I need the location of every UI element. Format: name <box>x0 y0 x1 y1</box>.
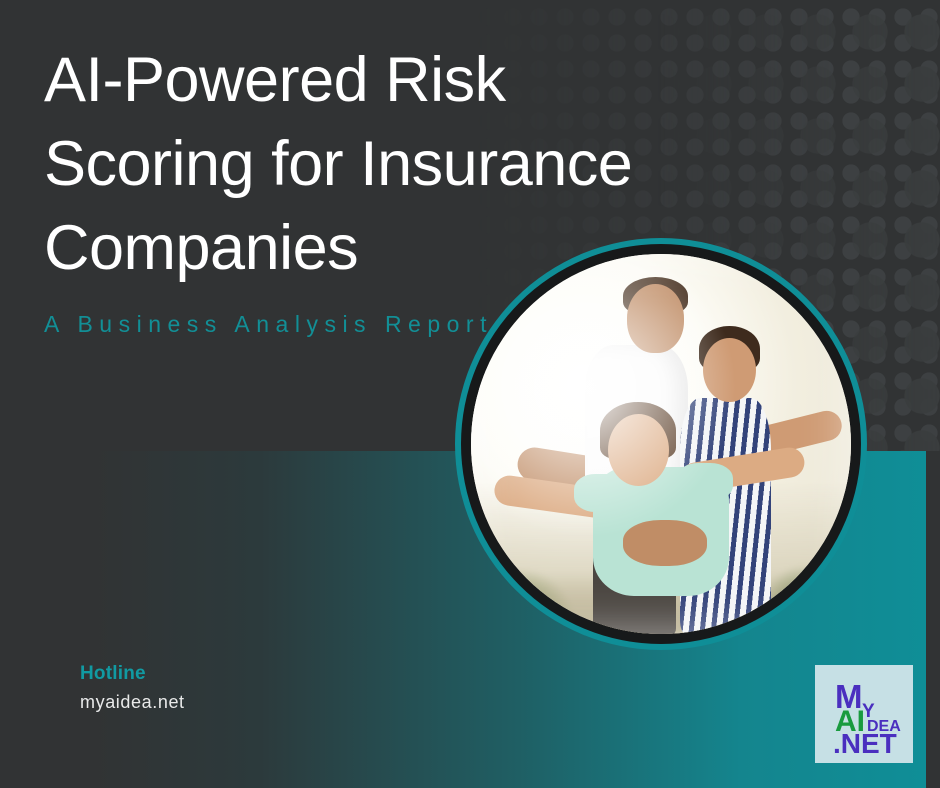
poster-canvas: AI-Powered Risk Scoring for Insurance Co… <box>0 0 940 788</box>
circular-photo-inner-ring <box>461 244 861 644</box>
hotline-value[interactable]: myaidea.net <box>80 692 185 713</box>
hotline-label: Hotline <box>80 663 185 685</box>
brand-logo[interactable]: M Y AI DEA .NET <box>815 665 913 763</box>
svg-text:.NET: .NET <box>833 728 897 759</box>
right-edge-strip <box>926 451 940 788</box>
brand-logo-icon: M Y AI DEA .NET <box>815 665 913 763</box>
circular-photo-frame <box>455 238 867 650</box>
hotline-block: Hotline myaidea.net <box>80 663 185 713</box>
photo-soft-vignette <box>471 254 851 634</box>
family-photo <box>471 254 851 634</box>
